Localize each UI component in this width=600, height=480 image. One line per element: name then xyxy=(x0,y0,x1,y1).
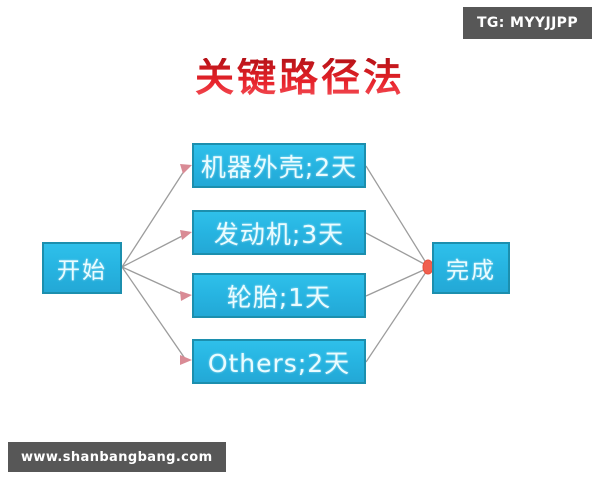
arrow-head-task-3 xyxy=(180,355,192,365)
arrow-head-task-0 xyxy=(180,164,192,174)
arrow-head-task-2 xyxy=(180,291,192,301)
node-task-others[interactable]: Others;2天 xyxy=(192,339,366,384)
node-finish[interactable]: 完成 xyxy=(432,242,510,294)
node-task-tires[interactable]: 轮胎;1天 xyxy=(192,273,366,318)
edge-start-to-task-0 xyxy=(122,168,186,267)
edge-start-to-task-1 xyxy=(122,234,186,267)
node-task-machine-shell[interactable]: 机器外壳;2天 xyxy=(192,143,366,188)
node-task-engine[interactable]: 发动机;3天 xyxy=(192,210,366,255)
watermark-bottom-left: www.shanbangbang.com xyxy=(8,442,226,472)
edge-task-1-to-end xyxy=(366,233,428,266)
edge-task-3-to-end xyxy=(366,269,428,362)
arrow-head-task-1 xyxy=(180,230,192,240)
page-title: 关键路径法 xyxy=(0,58,600,101)
node-start[interactable]: 开始 xyxy=(42,242,122,294)
diagram-canvas: 关键路径法 开始 机器外壳;2天 发动机;3天 轮胎;1天 Others;2天 … xyxy=(0,0,600,480)
watermark-top-right: TG: MYYJJPP xyxy=(463,7,592,39)
edge-task-0-to-end xyxy=(366,166,428,266)
